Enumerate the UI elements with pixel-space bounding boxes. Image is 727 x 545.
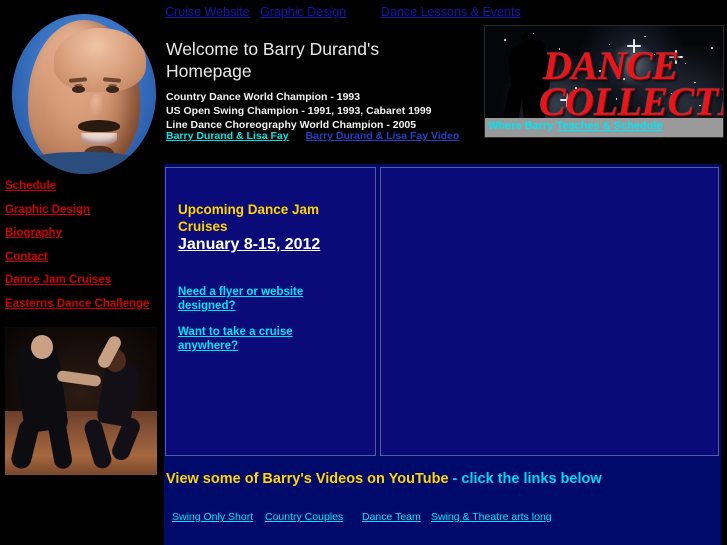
sidebar-item-easterns-dance-challenge[interactable]: Easterns Dance Challenge xyxy=(5,298,160,311)
youtube-heading-cyan: - click the links below xyxy=(453,471,602,487)
cruise-panel-title: Upcoming Dance Jam Cruises xyxy=(178,201,358,235)
secondary-content-panel xyxy=(380,167,719,456)
credential-line-2: US Open Swing Champion - 1991, 1993, Cab… xyxy=(166,104,476,118)
cruise-panel-date: January 8-15, 2012 xyxy=(178,236,320,254)
portrait-scalp xyxy=(54,28,146,92)
youtube-link-dance-team[interactable]: Dance Team xyxy=(362,511,421,523)
portrait-nose xyxy=(90,94,104,118)
top-nav-graphic-design[interactable]: Graphic Design xyxy=(260,4,346,20)
link-want-to-take-a-cruise[interactable]: Want to take a cruise anywhere? xyxy=(178,325,353,353)
youtube-link-country-couples[interactable]: Country Couples xyxy=(265,511,343,523)
top-navigation: Cruise Website Graphic Design Dance Less… xyxy=(165,4,710,22)
link-need-flyer-or-website[interactable]: Need a flyer or website designed? xyxy=(178,285,353,313)
sidebar-navigation: Schedule Graphic Design Biography Contac… xyxy=(5,180,160,321)
youtube-links-row: Swing Only Short Country Couples Dance T… xyxy=(172,511,692,527)
youtube-heading: View some of Barry's Videos on YouTube -… xyxy=(166,471,602,487)
portrait-moustache xyxy=(78,120,120,132)
cruise-info-panel: Upcoming Dance Jam Cruises January 8-15,… xyxy=(165,167,376,456)
banner-caption-bar: Where Barry Teaches & Schedule xyxy=(485,118,723,137)
credential-line-1: Country Dance World Champion - 1993 xyxy=(166,90,476,104)
page-title: Welcome to Barry Durand's Homepage xyxy=(166,38,456,82)
dance-action-photo xyxy=(5,327,157,475)
dance-photo-man-head xyxy=(31,335,53,359)
banner-caption-prefix: Where Barry xyxy=(488,120,556,132)
credentials-block: Country Dance World Champion - 1993 US O… xyxy=(166,90,476,133)
portrait-face xyxy=(28,20,140,172)
credential-links: Barry Durand & Lisa FayBarry Durand & Li… xyxy=(166,130,459,142)
youtube-heading-yellow: View some of Barry's Videos on YouTube xyxy=(166,471,453,487)
sidebar-item-biography[interactable]: Biography xyxy=(5,227,160,240)
page-root: Cruise Website Graphic Design Dance Less… xyxy=(0,0,727,545)
youtube-link-swing-only-short[interactable]: Swing Only Short xyxy=(172,511,253,523)
top-nav-cruise-website[interactable]: Cruise Website xyxy=(165,4,250,20)
youtube-link-swing-theatre-arts-long[interactable]: Swing & Theatre arts long xyxy=(431,511,552,523)
banner-caption-link-teaches-schedule[interactable]: Teaches & Schedule xyxy=(556,120,662,132)
sidebar-item-dance-jam-cruises[interactable]: Dance Jam Cruises xyxy=(5,274,160,287)
link-barry-durand-lisa-fay[interactable]: Barry Durand & Lisa Fay xyxy=(166,130,289,142)
dance-collective-banner[interactable]: DANCE COLLECTIVE Where Barry Teaches & S… xyxy=(484,25,724,138)
portrait-shirt xyxy=(22,152,146,174)
sidebar-item-contact[interactable]: Contact xyxy=(5,251,160,264)
portrait-mouth xyxy=(81,133,117,145)
barry-durand-portrait-photo xyxy=(12,14,156,174)
portrait-eye-right xyxy=(106,86,119,93)
top-nav-dance-lessons-events[interactable]: Dance Lessons & Events xyxy=(381,4,521,20)
sidebar-item-schedule[interactable]: Schedule xyxy=(5,180,160,193)
sidebar-item-graphic-design[interactable]: Graphic Design xyxy=(5,204,160,217)
link-barry-durand-lisa-fay-video[interactable]: Barry Durand & Lisa Fay Video xyxy=(306,130,460,142)
portrait-eye-left xyxy=(72,86,85,93)
